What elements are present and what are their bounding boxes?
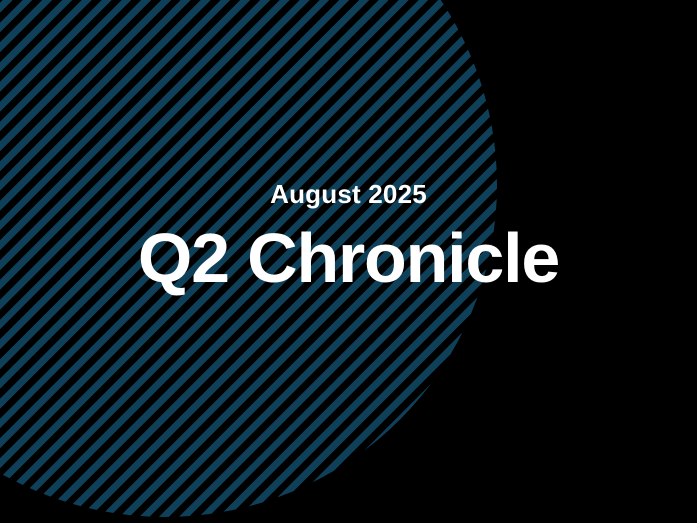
slide-title: Q2 Chronicle xyxy=(0,223,697,293)
title-slide: August 2025 Q2 Chronicle xyxy=(0,0,697,523)
slide-subtitle: August 2025 xyxy=(0,178,697,211)
title-text-block: August 2025 Q2 Chronicle xyxy=(0,178,697,293)
